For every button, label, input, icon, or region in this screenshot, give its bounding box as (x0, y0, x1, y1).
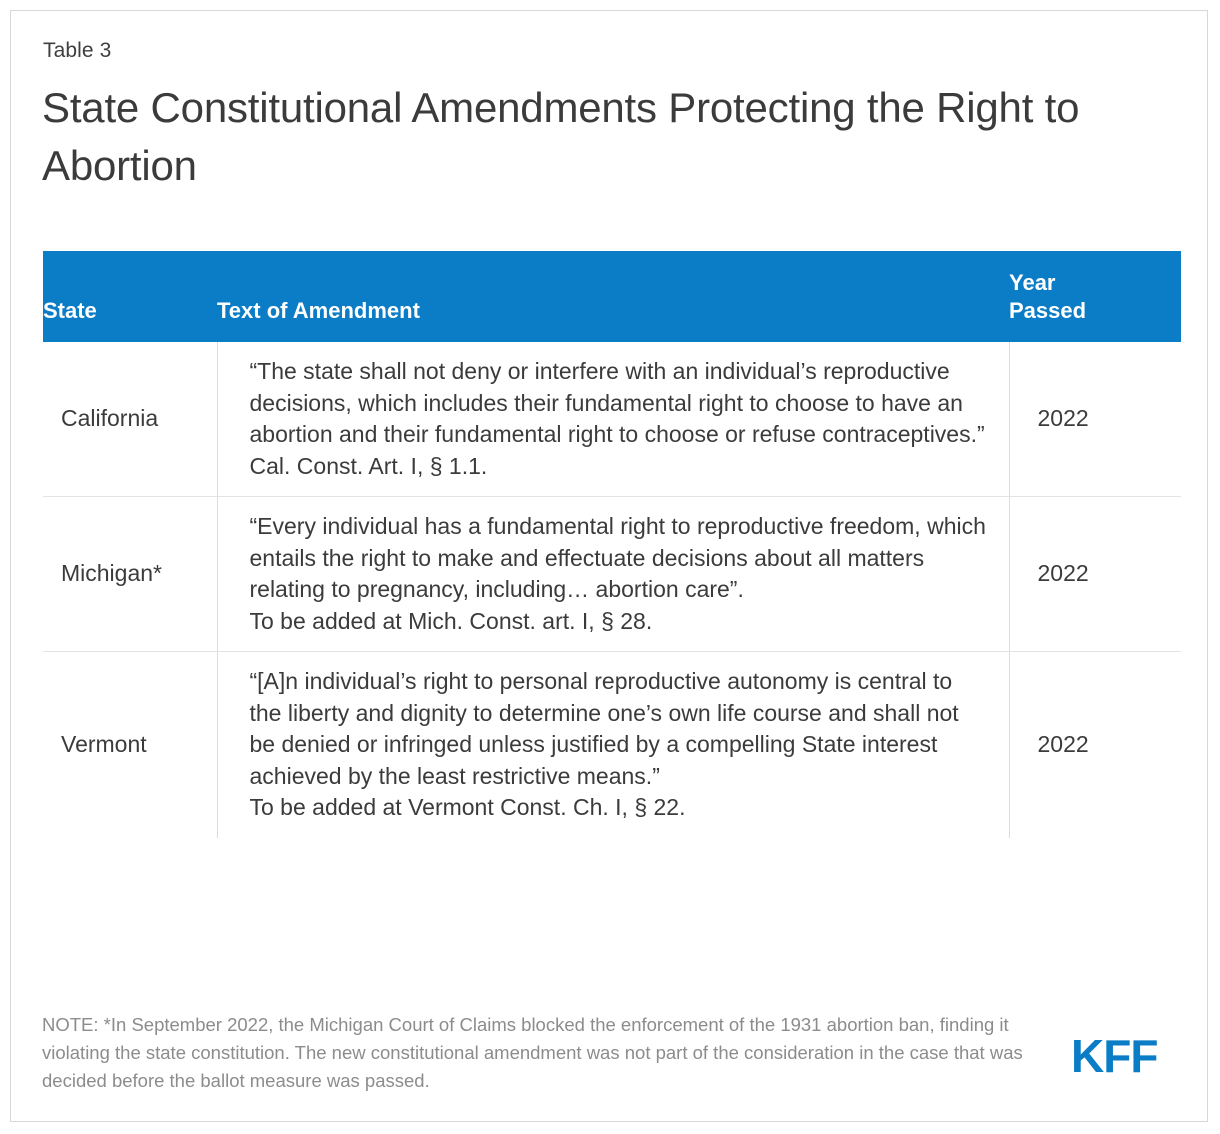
table-label: Table 3 (43, 39, 111, 63)
amendment-quote: “Every individual has a fundamental righ… (250, 513, 986, 602)
amendments-table: State Text of Amendment Year Passed Cali… (43, 251, 1181, 838)
table-row: California “The state shall not deny or … (43, 342, 1181, 497)
column-header-text-of-amendment: Text of Amendment (217, 251, 1009, 342)
cell-state: Vermont (43, 652, 217, 838)
cell-state: California (43, 342, 217, 497)
column-header-year-line1: Year (1009, 270, 1056, 295)
amendment-quote: “[A]n individual’s right to personal rep… (250, 668, 959, 789)
cell-amendment-text: “The state shall not deny or interfere w… (217, 342, 1009, 497)
amendment-citation: To be added at Mich. Const. art. I, § 28… (250, 606, 991, 638)
amendment-quote: “The state shall not deny or interfere w… (250, 358, 985, 447)
cell-year-passed: 2022 (1009, 652, 1181, 838)
cell-state: Michigan* (43, 497, 217, 652)
column-header-year-line2: Passed (1009, 298, 1086, 323)
amendment-citation: Cal. Const. Art. I, § 1.1. (250, 451, 991, 483)
table-row: Michigan* “Every individual has a fundam… (43, 497, 1181, 652)
table-row: Vermont “[A]n individual’s right to pers… (43, 652, 1181, 838)
cell-amendment-text: “Every individual has a fundamental righ… (217, 497, 1009, 652)
table-body: California “The state shall not deny or … (43, 342, 1181, 838)
page-title: State Constitutional Amendments Protecti… (42, 79, 1122, 195)
amendment-citation: To be added at Vermont Const. Ch. I, § 2… (250, 792, 991, 824)
kff-logo: KFF (1071, 1029, 1157, 1083)
column-header-year-passed: Year Passed (1009, 251, 1181, 342)
figure-container: Table 3 State Constitutional Amendments … (10, 10, 1208, 1122)
cell-year-passed: 2022 (1009, 497, 1181, 652)
cell-amendment-text: “[A]n individual’s right to personal rep… (217, 652, 1009, 838)
column-header-state: State (43, 251, 217, 342)
cell-year-passed: 2022 (1009, 342, 1181, 497)
table-header-row: State Text of Amendment Year Passed (43, 251, 1181, 342)
footnote-note: NOTE: *In September 2022, the Michigan C… (42, 1011, 1062, 1095)
table-header: State Text of Amendment Year Passed (43, 251, 1181, 342)
